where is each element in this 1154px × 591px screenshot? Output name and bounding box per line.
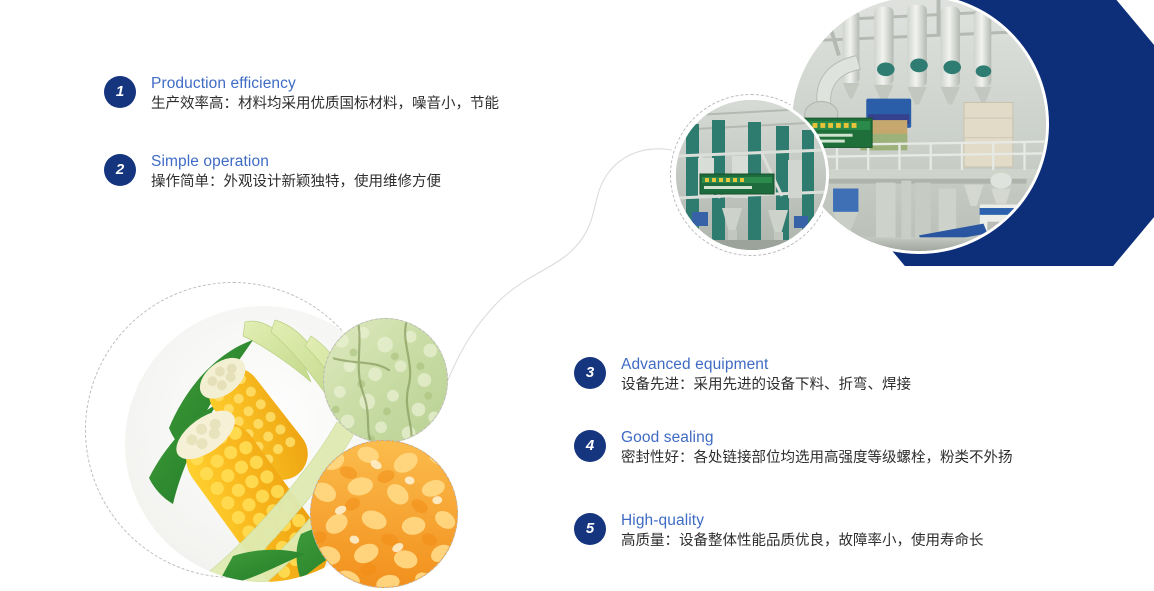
feature-title: Advanced equipment — [621, 355, 911, 374]
feature-item-2[interactable]: 2 Simple operation 操作简单：外观设计新颖独特，使用维修方便 — [104, 152, 441, 193]
hexagon-photo-cluster — [660, 0, 1154, 282]
feature-description: 高质量：设备整体性能品质优良，故障率小，使用寿命长 — [621, 531, 984, 552]
feature-text-block: Advanced equipment 设备先进：采用先进的设备下料、折弯、焊接 — [621, 355, 911, 396]
feature-text-block: High-quality 高质量：设备整体性能品质优良，故障率小，使用寿命长 — [621, 511, 984, 552]
green-corn-flour-photo — [323, 318, 448, 443]
feature-item-4[interactable]: 4 Good sealing 密封性好：各处链接部位均选用高强度等级螺栓，粉类不… — [574, 428, 1013, 469]
feature-badge-number: 1 — [104, 76, 136, 108]
feature-badge-number: 2 — [104, 154, 136, 186]
feature-item-3[interactable]: 3 Advanced equipment 设备先进：采用先进的设备下料、折弯、焊… — [574, 355, 911, 396]
feature-text-block: Simple operation 操作简单：外观设计新颖独特，使用维修方便 — [151, 152, 441, 193]
corn-photo-cluster — [85, 282, 505, 591]
feature-badge-number: 3 — [574, 357, 606, 389]
feature-description: 操作简单：外观设计新颖独特，使用维修方便 — [151, 172, 441, 193]
feature-title: Good sealing — [621, 428, 1013, 447]
feature-item-1[interactable]: 1 Production efficiency 生产效率高：材料均采用优质国标材… — [104, 74, 499, 115]
feature-title: Production efficiency — [151, 74, 499, 93]
feature-item-5[interactable]: 5 High-quality 高质量：设备整体性能品质优良，故障率小，使用寿命长 — [574, 511, 984, 552]
feature-title: High-quality — [621, 511, 984, 530]
feature-text-block: Good sealing 密封性好：各处链接部位均选用高强度等级螺栓，粉类不外扬 — [621, 428, 1013, 469]
feature-description: 设备先进：采用先进的设备下料、折弯、焊接 — [621, 375, 911, 396]
feature-text-block: Production efficiency 生产效率高：材料均采用优质国标材料，… — [151, 74, 499, 115]
infographic-canvas: 1 Production efficiency 生产效率高：材料均采用优质国标材… — [0, 0, 1154, 591]
feature-description: 生产效率高：材料均采用优质国标材料，噪音小，节能 — [151, 94, 499, 115]
green-milling-equipment-photo — [676, 100, 826, 250]
factory-milling-plant-photo — [789, 0, 1049, 254]
feature-description: 密封性好：各处链接部位均选用高强度等级螺栓，粉类不外扬 — [621, 448, 1013, 469]
feature-badge-number: 4 — [574, 430, 606, 462]
feature-badge-number: 5 — [574, 513, 606, 545]
corn-grits-photo — [310, 440, 458, 588]
feature-title: Simple operation — [151, 152, 441, 171]
